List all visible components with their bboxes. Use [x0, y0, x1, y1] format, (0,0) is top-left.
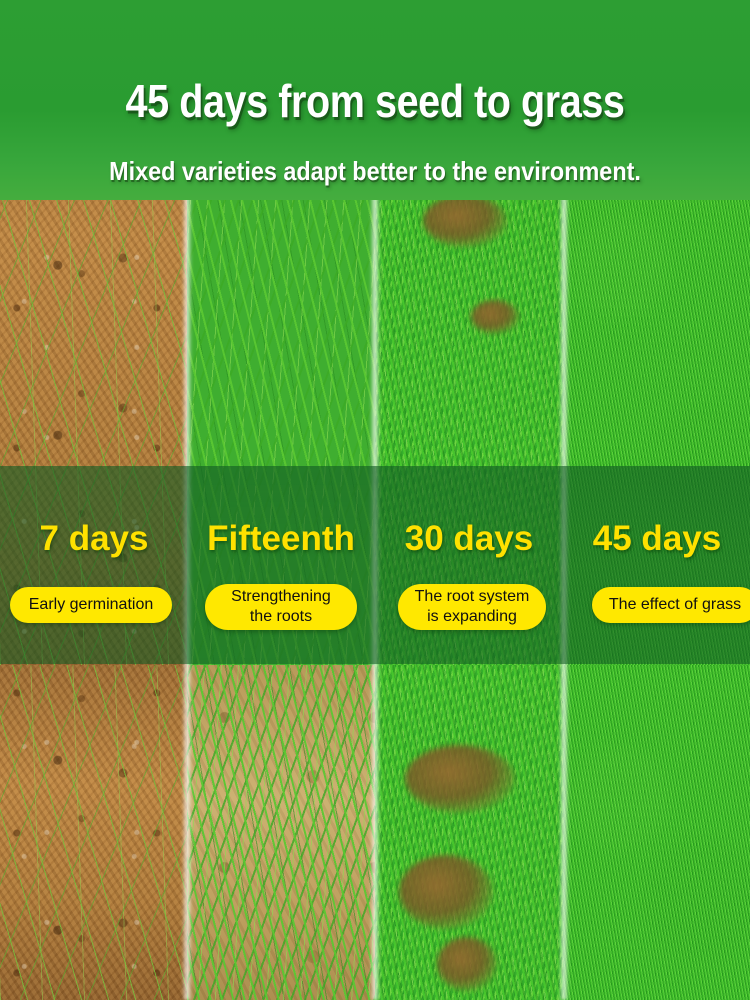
panel-2-bottom-photo [187, 665, 375, 1000]
panel-4-bottom-photo [563, 665, 750, 1000]
caption-line-1: Strengthening [231, 588, 331, 605]
day-label-1: 7 days [0, 520, 188, 558]
caption-line-2: the roots [250, 608, 312, 625]
medium-grass-texture [187, 665, 375, 1000]
caption-line-2: is expanding [427, 608, 517, 625]
sparse-grass-texture [0, 665, 188, 1000]
caption-pill-3: The root system is expanding [398, 584, 546, 630]
page-title: 45 days from seed to grass [53, 76, 698, 126]
timeline-cell-1: 7 days Early germination [0, 466, 188, 664]
bare-patch [423, 195, 507, 247]
promo-poster: 45 days from seed to grass Mixed varieti… [0, 0, 750, 1000]
panel-1-bottom-photo [0, 665, 188, 1000]
caption-line-1: The root system [415, 588, 530, 605]
day-label-4: 45 days [563, 520, 750, 558]
caption-pill-1: Early germination [10, 587, 172, 623]
caption-text-3: The root system is expanding [415, 587, 530, 627]
bare-patch [471, 300, 519, 334]
caption-pill-2: Strengthening the roots [205, 584, 357, 630]
timeline-cell-4: 45 days The effect of grass [563, 466, 750, 664]
day-label-2: Fifteenth [187, 520, 375, 558]
caption-text-4: The effect of grass [609, 595, 741, 615]
day-label-3: 30 days [375, 520, 563, 558]
page-subtitle: Mixed varieties adapt better to the envi… [38, 156, 713, 186]
caption-text-1: Early germination [29, 595, 154, 615]
poster-header: 45 days from seed to grass Mixed varieti… [0, 0, 750, 200]
bare-patch [405, 745, 515, 813]
bare-patch [437, 937, 497, 991]
timeline-cell-3: 30 days The root system is expanding [375, 466, 563, 664]
panel-3-bottom-photo [375, 665, 563, 1000]
timeline-label-band: 7 days Early germination Fifteenth Stren… [0, 466, 750, 664]
bare-patch [399, 855, 493, 929]
caption-pill-4: The effect of grass [592, 587, 750, 623]
timeline-cell-2: Fifteenth Strengthening the roots [187, 466, 375, 664]
caption-text-2: Strengthening the roots [231, 587, 331, 627]
